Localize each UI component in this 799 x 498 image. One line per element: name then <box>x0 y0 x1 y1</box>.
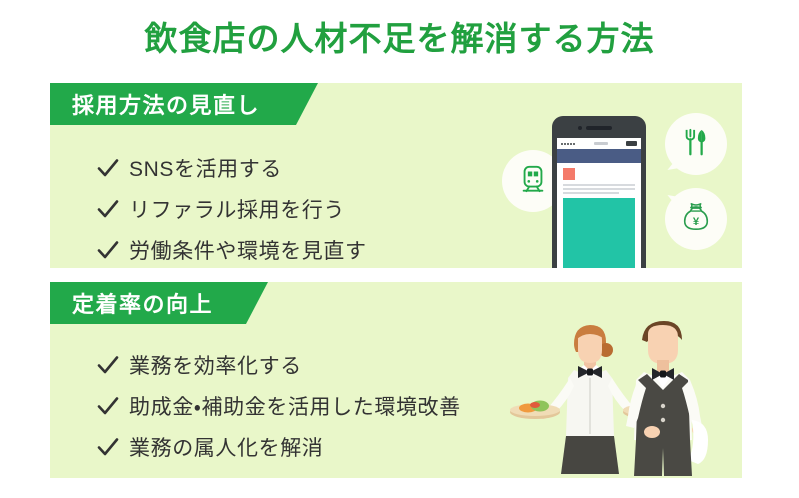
list-item-label: 助成金・補助金を活用した環境改善 <box>129 391 461 421</box>
phone-speaker-icon <box>586 126 612 130</box>
phone-status-bar <box>557 138 641 149</box>
check-icon <box>96 157 120 179</box>
section-retain: 定着率の向上 業務を効率化する 助成金・補助金を活用した環境改善 <box>50 282 742 478</box>
list-item: 助成金・補助金を活用した環境改善 <box>96 385 461 426</box>
bullet-list-recruit: SNSを活用する リファラル採用を行う 労働条件や環境を見直す <box>96 147 367 268</box>
svg-text:¥: ¥ <box>693 216 700 228</box>
section-heading-recruit-label: 採用方法の見直し <box>72 88 260 120</box>
section-heading-retain: 定着率の向上 <box>50 282 268 324</box>
app-header-bar <box>557 149 641 163</box>
list-item-label: 業務を効率化する <box>129 350 302 380</box>
battery-icon <box>626 141 637 146</box>
check-icon <box>96 395 120 417</box>
list-item-label: リファラル採用を行う <box>129 194 345 224</box>
text-placeholder-lines <box>563 184 635 194</box>
list-item-label: 業務の属人化を解消 <box>129 432 323 462</box>
signal-icon <box>561 143 575 145</box>
train-icon <box>518 164 548 199</box>
smartphone-device <box>552 116 646 268</box>
page-title: 飲食店の人材不足を解消する方法 <box>0 18 799 59</box>
list-item-label: 労働条件や環境を見直す <box>129 235 367 265</box>
clock-icon <box>594 142 608 145</box>
list-item-label: SNSを活用する <box>129 153 282 183</box>
speech-bubble-cutlery <box>665 113 727 175</box>
list-item: 業務の属人化を解消 <box>96 426 461 467</box>
avatar <box>563 168 575 180</box>
phone-screen <box>557 138 641 268</box>
list-item: SNSを活用する <box>96 147 367 188</box>
check-icon <box>96 198 120 220</box>
section-heading-retain-label: 定着率の向上 <box>72 287 213 319</box>
cutlery-icon <box>681 127 711 162</box>
waiter-figure <box>626 321 708 476</box>
staff-illustration <box>502 308 742 478</box>
check-icon <box>96 436 120 458</box>
check-icon <box>96 239 120 261</box>
bullet-list-retain: 業務を効率化する 助成金・補助金を活用した環境改善 業務の属人化を解消 <box>96 344 461 467</box>
hero-image-block <box>563 198 635 269</box>
money-bag-yen-icon: ¥ <box>680 201 712 238</box>
list-item: 業務を効率化する <box>96 344 461 385</box>
list-item: リファラル採用を行う <box>96 188 367 229</box>
list-item: 労働条件や環境を見直す <box>96 229 367 268</box>
smartphone-illustration: ¥ <box>502 110 742 268</box>
section-recruit: 採用方法の見直し SNSを活用する リファラル採用を行う <box>50 83 742 268</box>
check-icon <box>96 354 120 376</box>
phone-camera-icon <box>578 126 582 130</box>
speech-bubble-money: ¥ <box>665 188 727 250</box>
section-heading-recruit: 採用方法の見直し <box>50 83 318 125</box>
app-content <box>557 163 641 268</box>
